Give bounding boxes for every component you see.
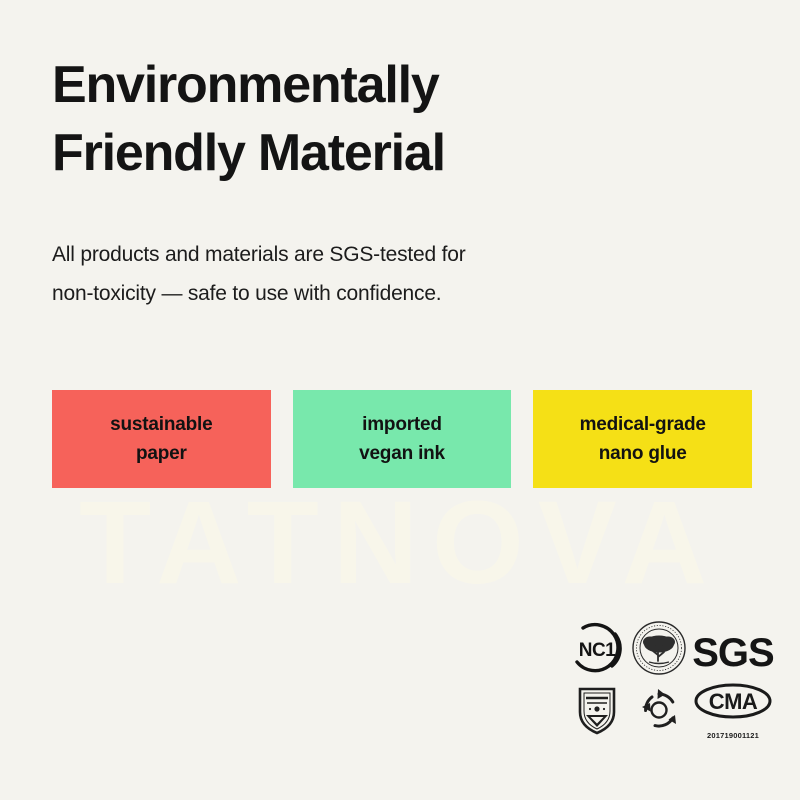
page-title: Environmentally Friendly Material [52,52,692,187]
sgs-label: SGS [692,633,773,673]
material-chip-line-1: imported [362,410,442,439]
material-chip-line-1: medical-grade [580,410,706,439]
certification-badge-group: NC1 SGS [566,616,778,738]
brand-watermark: TATNOVA [0,484,800,602]
cma-icon: CMA 201719001121 [690,682,776,738]
page-description: All products and materials are SGS-teste… [52,236,652,314]
material-chip-sustainable-paper: sustainable paper [52,390,271,488]
shield-icon [566,682,628,738]
material-chip-medical-grade-nano-glue: medical-grade nano glue [533,390,752,488]
material-chip-line-2: paper [136,439,187,468]
nc1-icon: NC1 [566,620,628,678]
svg-text:NC1: NC1 [579,640,616,661]
tree-seal-icon [628,618,690,678]
poster-canvas: TATNOVA Environmentally Friendly Materia… [0,0,800,800]
sgs-icon: SGS [690,628,776,678]
material-chip-line-1: sustainable [110,410,212,439]
material-chip-line-2: nano glue [599,439,687,468]
material-chip-line-2: vegan ink [359,439,445,468]
cma-certificate-number: 201719001121 [690,732,776,740]
svg-text:CMA: CMA [709,689,758,714]
certification-badge-row-bottom: CMA 201719001121 [566,678,778,738]
material-chip-imported-vegan-ink: imported vegan ink [293,390,512,488]
recycle-icon [628,682,690,738]
page-title-line-2: Friendly Material [52,120,692,188]
material-chip-group: sustainable paper imported vegan ink med… [52,390,752,488]
page-description-line-2: non-toxicity — safe to use with confiden… [52,275,652,314]
certification-badge-row-top: NC1 SGS [566,616,778,678]
page-title-line-1: Environmentally [52,52,692,120]
page-description-line-1: All products and materials are SGS-teste… [52,236,652,275]
